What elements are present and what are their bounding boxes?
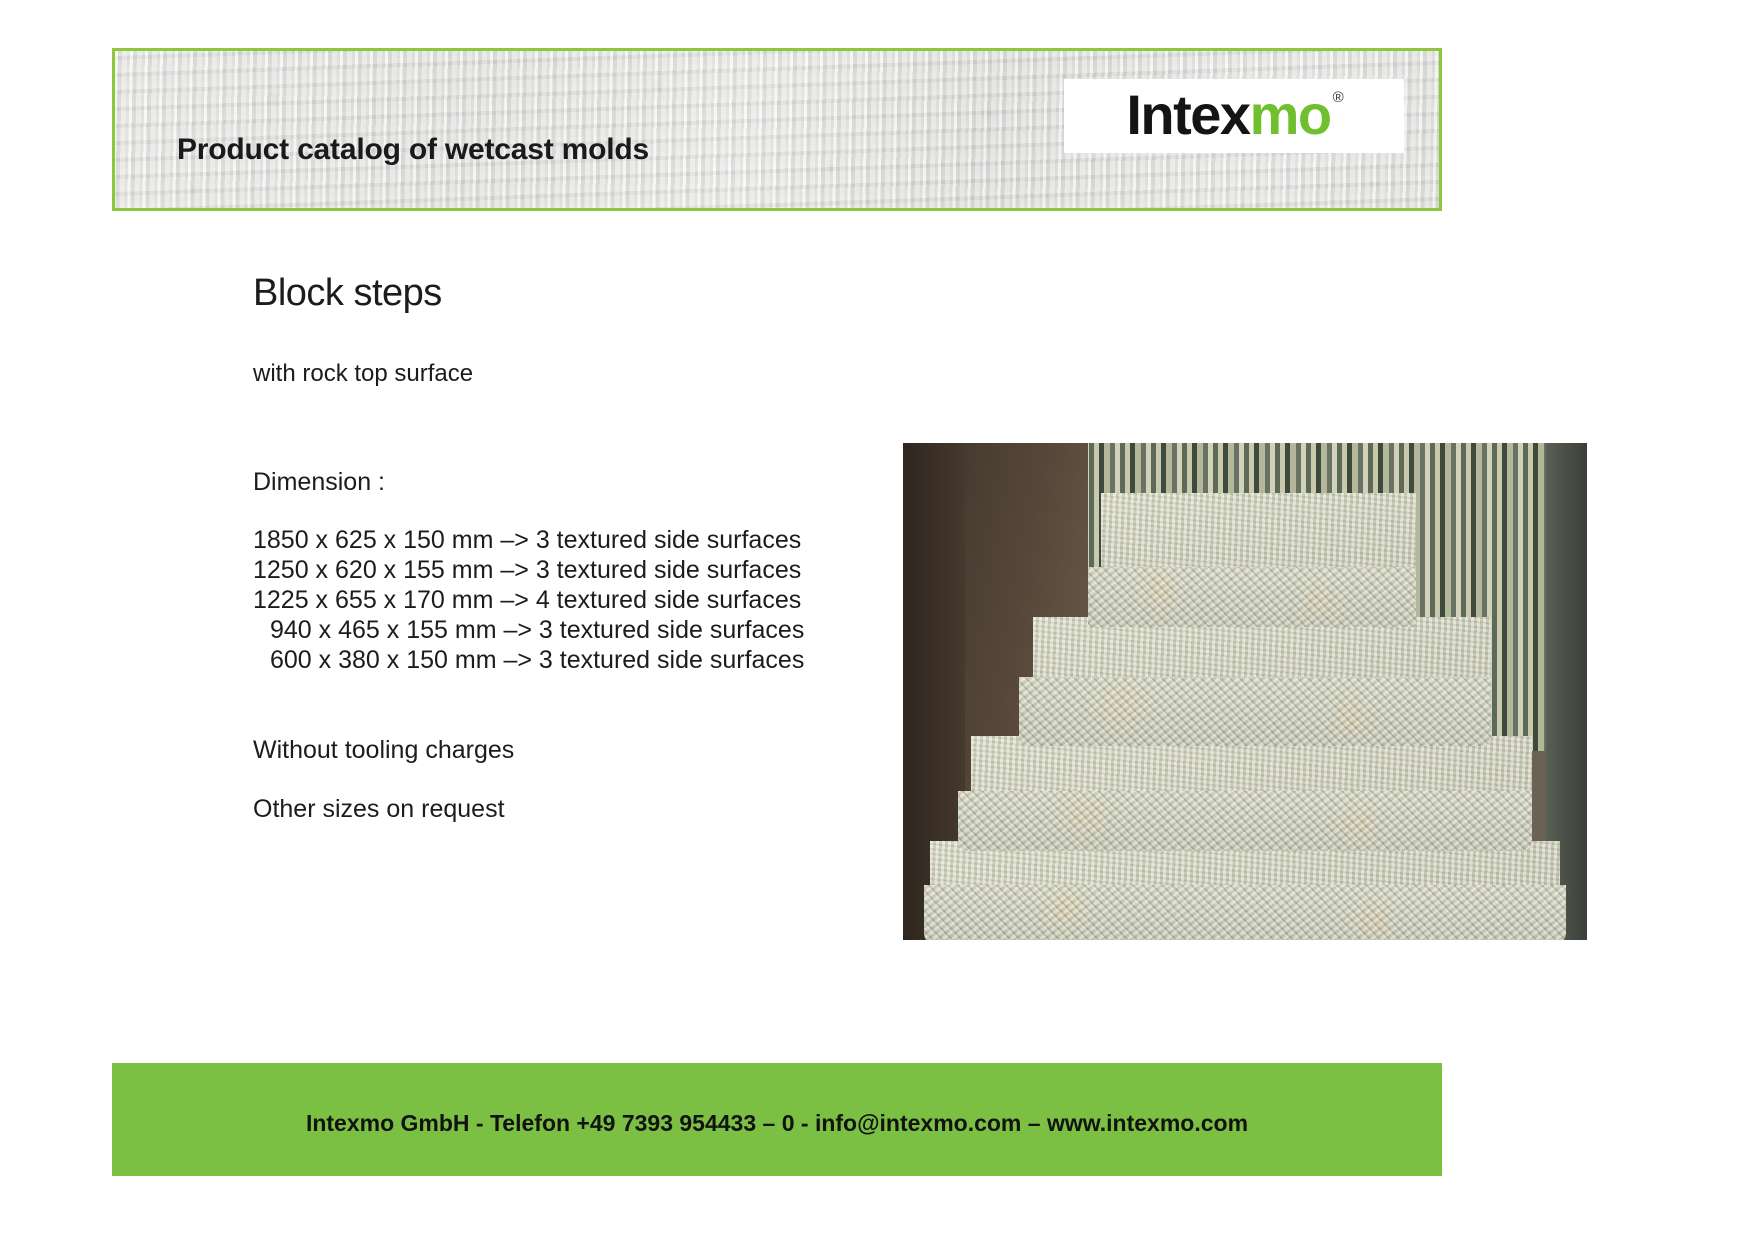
header-banner: Product catalog of wetcast molds Intexmo… [112,48,1442,211]
intexmo-logo: Intexmo® [1064,79,1404,153]
note-other-sizes-on-request: Other sizes on request [253,795,505,824]
logo-text-green: mo [1250,83,1331,146]
dimension-row: 1250 x 620 x 155 mm –> 3 textured side s… [253,555,873,585]
dimension-row: 940 x 465 x 155 mm –> 3 textured side su… [253,615,873,645]
footer-bar: Intexmo GmbH - Telefon +49 7393 954433 –… [112,1063,1442,1176]
block-step-2-face [1019,677,1491,747]
block-step-4-face [924,885,1567,940]
block-step-3-face [958,791,1533,851]
dimension-row: 1225 x 655 x 170 mm –> 4 textured side s… [253,585,873,615]
product-subtitle: with rock top surface [253,360,473,388]
logo-wordmark: Intexmo® [1126,87,1341,143]
page-title: Product catalog of wetcast molds [177,133,649,167]
registered-trademark-icon: ® [1333,89,1344,106]
note-without-tooling-charges: Without tooling charges [253,736,514,765]
block-step-1-top [1101,493,1416,573]
product-heading: Block steps [253,272,442,315]
product-photo [903,443,1587,940]
logo-text-black: Intex [1126,83,1249,146]
footer-contact-text: Intexmo GmbH - Telefon +49 7393 954433 –… [112,1110,1442,1137]
block-step-1-face [1088,567,1416,627]
dimension-row: 600 x 380 x 150 mm –> 3 textured side su… [253,645,873,675]
dimension-row: 1850 x 625 x 150 mm –> 3 textured side s… [253,525,873,555]
dimension-list: 1850 x 625 x 150 mm –> 3 textured side s… [253,525,873,675]
dimension-label: Dimension : [253,468,385,497]
